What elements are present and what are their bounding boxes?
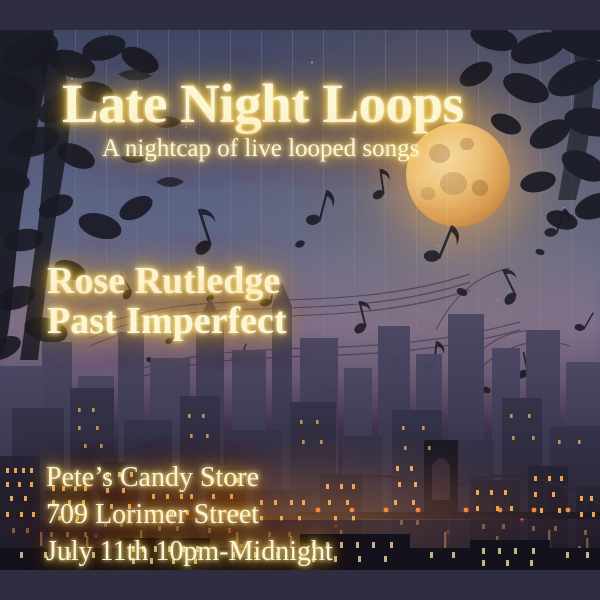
event-poster: Late Night Loops A nightcap of live loop… xyxy=(0,0,600,600)
letterbox-band-top xyxy=(0,0,600,30)
note-fleck xyxy=(294,239,306,249)
poster-artwork: Late Night Loops A nightcap of live loop… xyxy=(0,30,600,570)
letterbox-band-bottom xyxy=(0,570,600,600)
performer-name-1: Rose Rutledge xyxy=(47,262,280,300)
event-datetime: July 11th 10pm-Midnight xyxy=(46,538,333,566)
note-fleck xyxy=(535,248,545,256)
performer-name-2: Past Imperfect xyxy=(47,302,287,340)
music-note-icon xyxy=(303,186,337,231)
venue-name: Pete’s Candy Store xyxy=(46,464,259,492)
poster-subtitle: A nightcap of live looped songs xyxy=(102,136,419,161)
poster-title: Late Night Loops xyxy=(62,76,464,131)
venue-address: 709 Lorimer Street xyxy=(46,501,259,529)
